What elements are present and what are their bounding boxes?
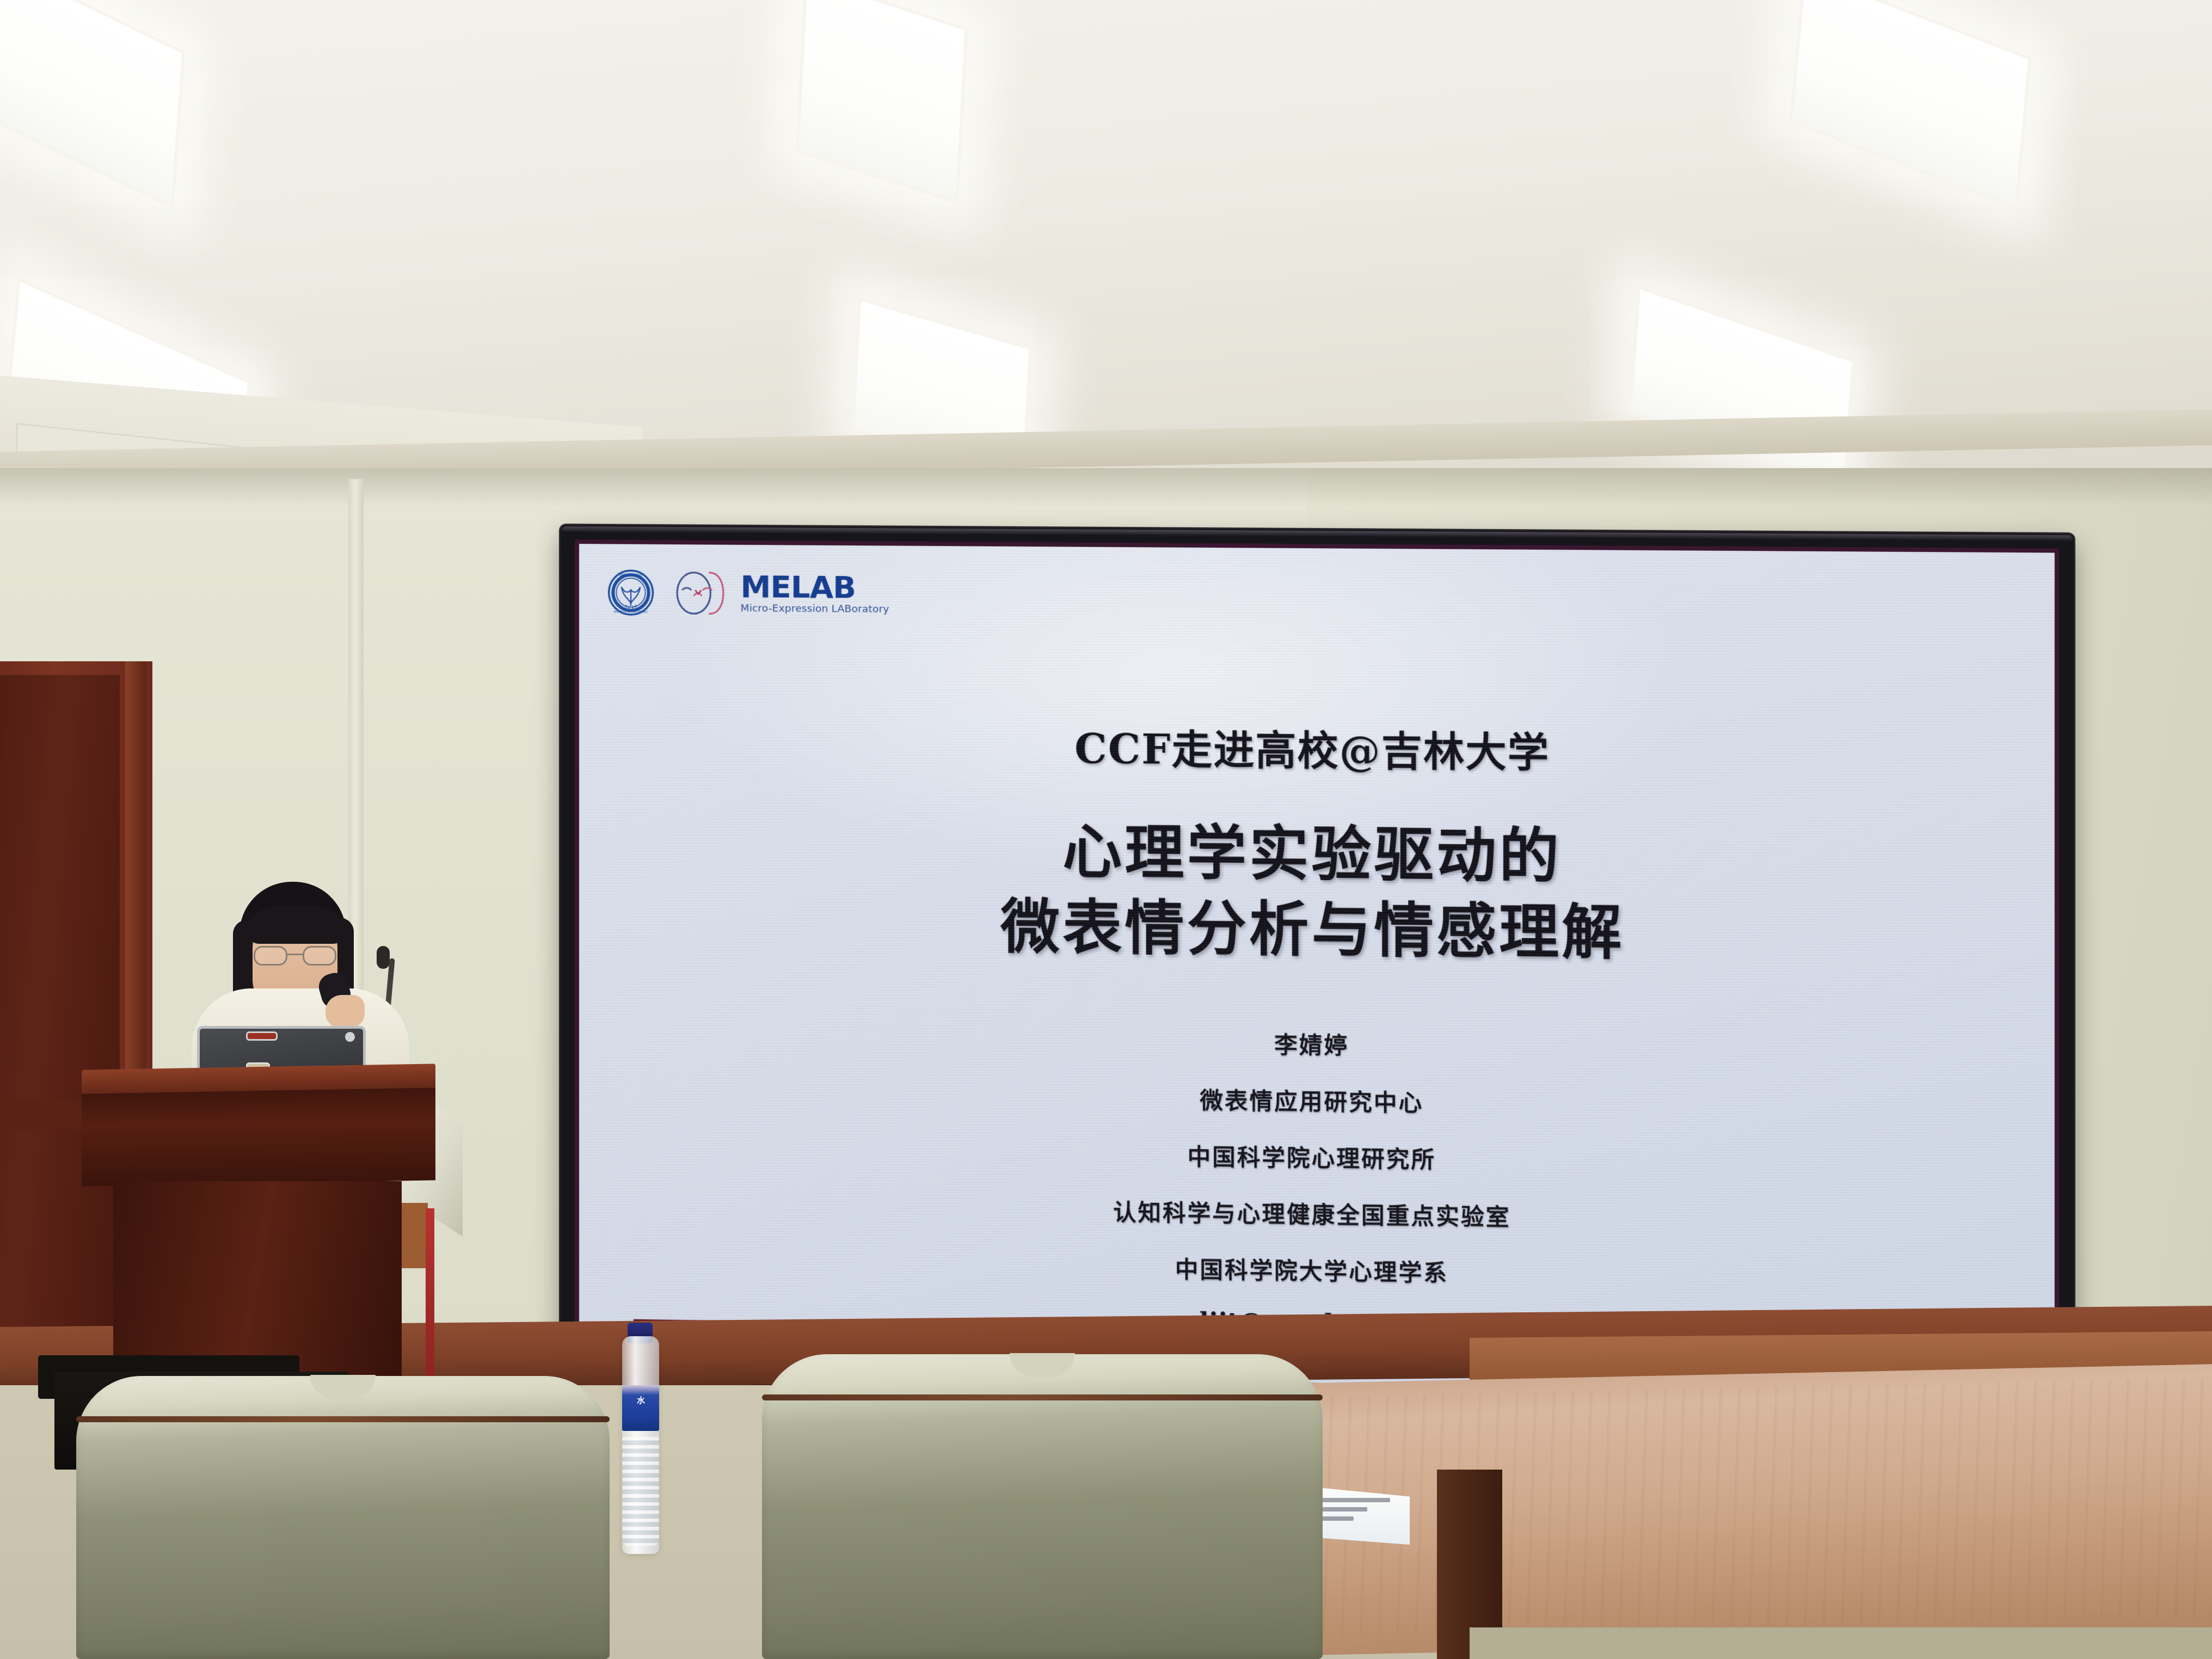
- slide-affiliation-3: 认知科学与心理健康全国重点实验室: [1113, 1194, 1510, 1233]
- projection-screen[interactable]: 中国科学院心理研究所 INSTITUTE OF PSYCHOLOGY MELAB…: [561, 525, 2074, 1412]
- slide-text-body: CCF走进高校@吉林大学 心理学实验驱动的 微表情分析与情感理解 李婧婷 微表情…: [579, 544, 2055, 1393]
- ceiling-light-panel-1: [0, 0, 185, 210]
- chair-right-piping: [762, 1394, 1323, 1400]
- conference-room-scene: 中国科学院心理研究所 INSTITUTE OF PSYCHOLOGY MELAB…: [0, 0, 2212, 1659]
- slide-affiliation-1: 微表情应用研究中心: [1200, 1083, 1423, 1119]
- wall-top-shadow: [0, 468, 2212, 506]
- foreground-chair-right: [762, 1354, 1323, 1659]
- glasses-bridge: [287, 954, 303, 955]
- ceiling-light-panel-3: [1789, 0, 2031, 210]
- water-bottle-ribs: [622, 1437, 659, 1546]
- laptop-camera-icon: [345, 1032, 355, 1042]
- floor-strip: [1470, 1627, 2212, 1659]
- laptop-hinge-accent: [246, 1031, 278, 1041]
- glasses-icon: [254, 946, 336, 966]
- presenter-hand: [325, 995, 365, 1028]
- presenter-fringe: [248, 907, 344, 944]
- chair-left-notch: [310, 1375, 376, 1399]
- glasses-lens-left: [254, 946, 287, 966]
- slide-affiliation-block: 李婧婷 微表情应用研究中心 中国科学院心理研究所 认知科学与心理健康全国重点实验…: [1113, 1025, 1510, 1340]
- presentation-slide: 中国科学院心理研究所 INSTITUTE OF PSYCHOLOGY MELAB…: [579, 544, 2055, 1393]
- water-bottle-label: [622, 1385, 659, 1431]
- slide-title-line-1: 心理学实验驱动的: [1000, 814, 1624, 895]
- foreground-chair-left: [76, 1376, 610, 1659]
- slide-title-line-2: 微表情分析与情感理解: [1000, 889, 1624, 971]
- ceiling-light-panel-6: [1629, 285, 1855, 488]
- ceiling: [0, 0, 2212, 479]
- podium-front-face: [82, 1087, 435, 1186]
- glasses-lens-right: [303, 946, 336, 966]
- slide-presenter-name: 李婧婷: [1274, 1027, 1349, 1061]
- slide-affiliation-2: 中国科学院心理研究所: [1188, 1139, 1436, 1175]
- ceiling-light-panel-2: [795, 0, 968, 205]
- slide-main-title: 心理学实验驱动的 微表情分析与情感理解: [1000, 814, 1624, 971]
- water-bottle-label-text: 水: [622, 1394, 659, 1406]
- slide-affiliation-4: 中国科学院大学心理学系: [1175, 1251, 1448, 1288]
- chair-left-piping: [76, 1416, 610, 1422]
- slide-event-line: CCF走进高校@吉林大学: [1074, 716, 1550, 779]
- chair-right-notch: [1010, 1353, 1075, 1377]
